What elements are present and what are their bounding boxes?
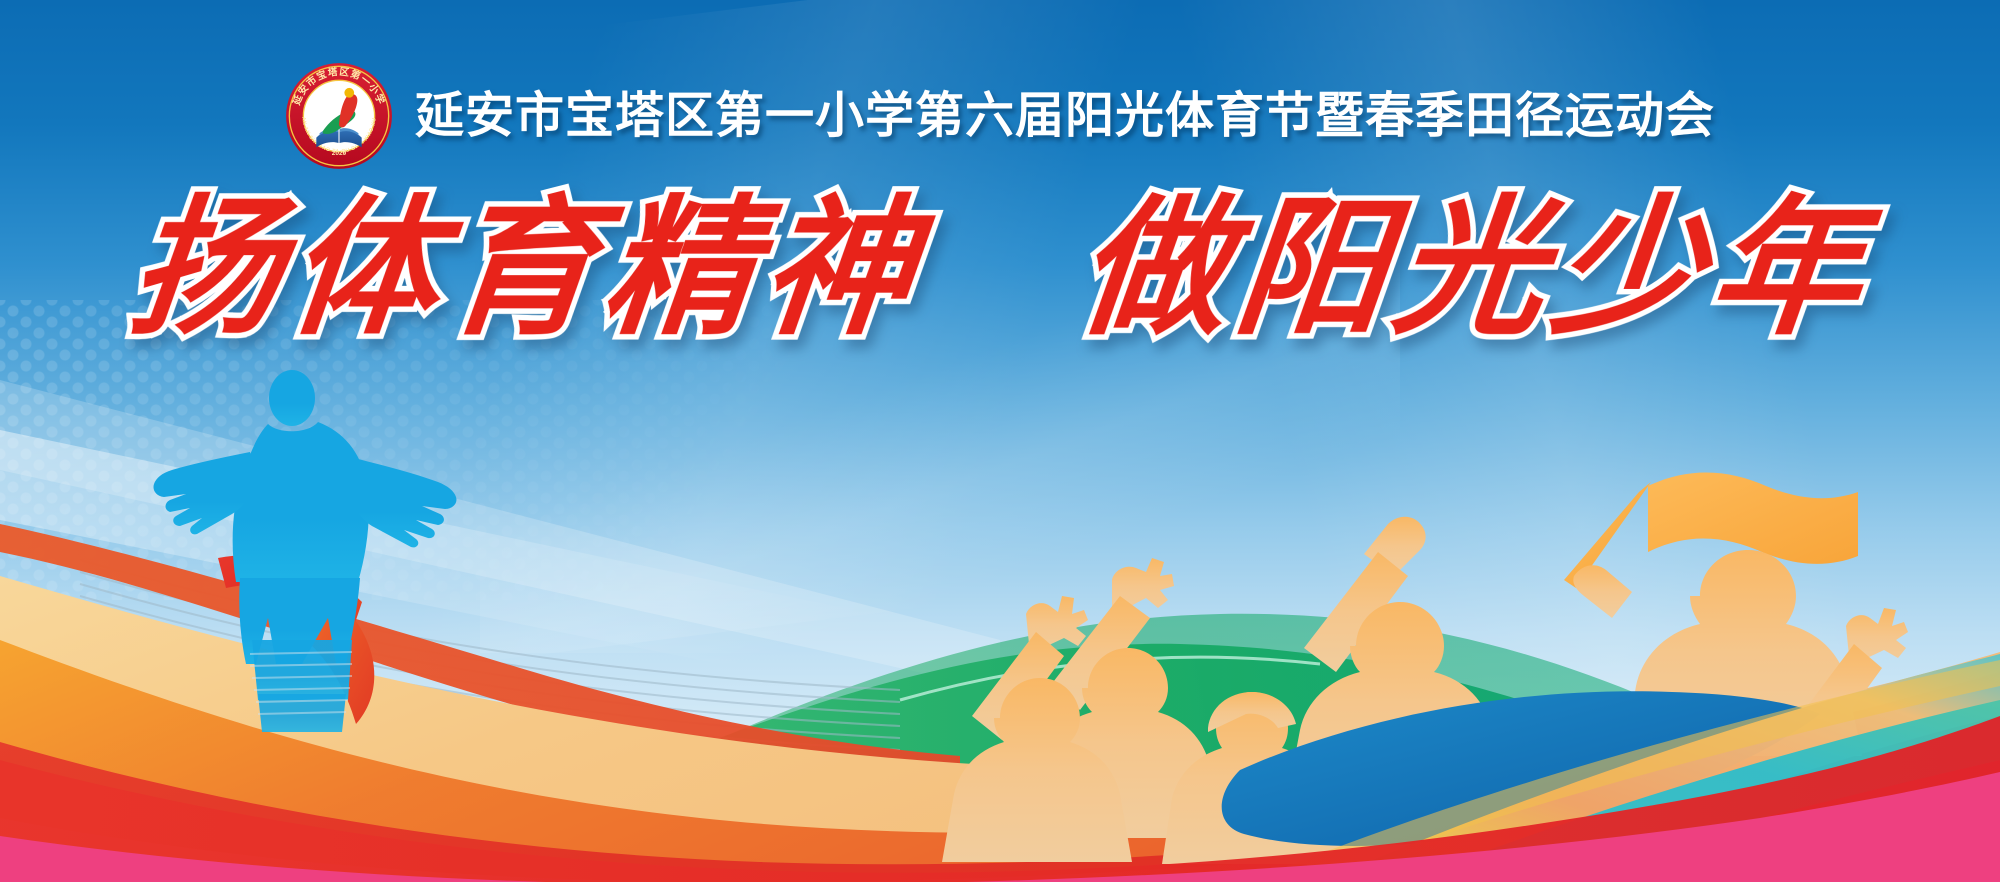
school-emblem-logo: 延安市宝塔区第一小学 YAN AN SHI BAO TA QU DI YI XI… bbox=[285, 62, 393, 170]
banner-header: 延安市宝塔区第一小学 YAN AN SHI BAO TA QU DI YI XI… bbox=[0, 62, 2000, 170]
event-title: 延安市宝塔区第一小学第六届阳光体育节暨春季田径运动会 bbox=[415, 92, 1715, 141]
sports-meet-banner: 延安市宝塔区第一小学 YAN AN SHI BAO TA QU DI YI XI… bbox=[0, 0, 2000, 882]
logo-year: 2020 bbox=[332, 150, 347, 157]
